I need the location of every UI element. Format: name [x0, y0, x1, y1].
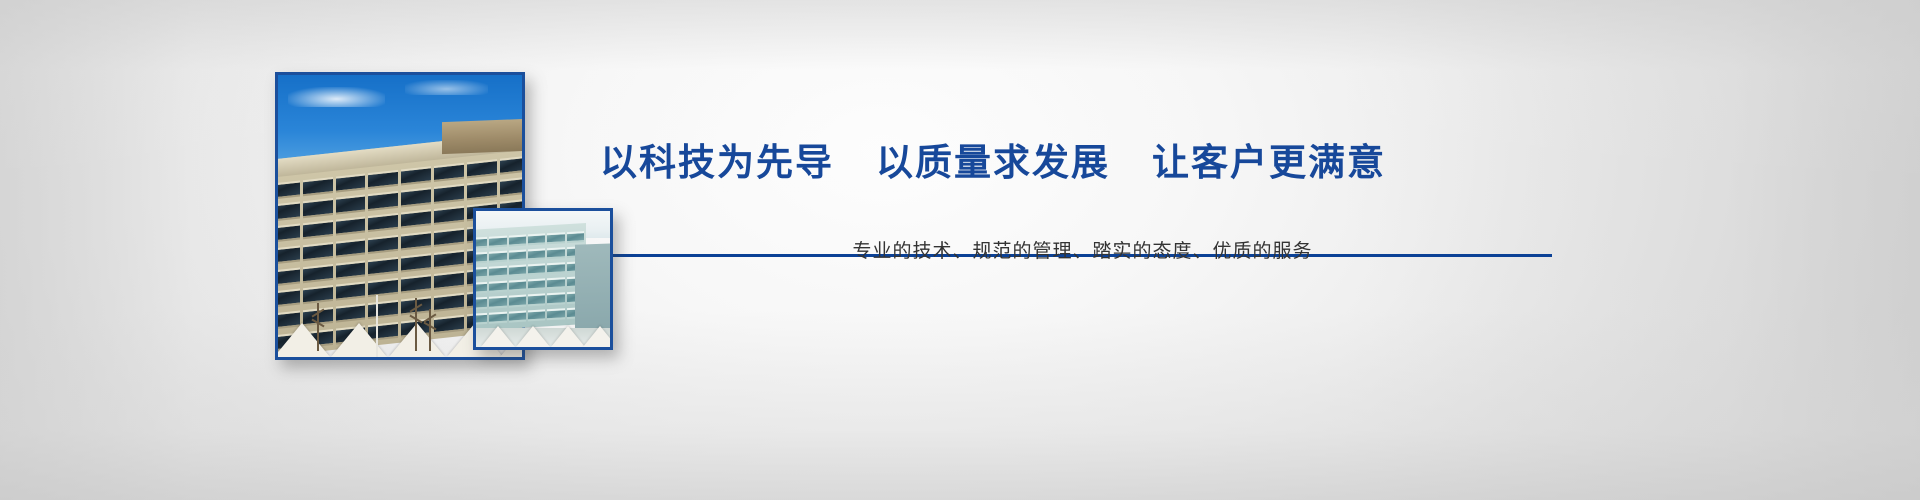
banner-subtitle-wrapper: 专业的技术、规范的管理、踏实的态度、优质的服务 [613, 236, 1552, 263]
promo-banner: 以科技为先导以质量求发展让客户更满意 专业的技术、规范的管理、踏实的态度、优质的… [0, 0, 1920, 500]
banner-headline: 以科技为先导以质量求发展让客户更满意 [600, 140, 1560, 186]
cloud-shape [288, 87, 386, 107]
cloud-shape [405, 80, 488, 95]
headline-segment-3: 让客户更满意 [1152, 140, 1386, 186]
glass-building-photo [473, 208, 613, 350]
banner-subtitle: 专业的技术、规范的管理、踏实的态度、优质的服务 [613, 236, 1552, 263]
adjacent-building [575, 243, 610, 331]
headline-segment-2: 以质量求发展 [876, 140, 1110, 186]
glass-building-photo-content [476, 211, 610, 347]
headline-segment-1: 以科技为先导 [600, 140, 834, 186]
building-facade [476, 223, 586, 331]
building-penthouse [442, 119, 522, 154]
